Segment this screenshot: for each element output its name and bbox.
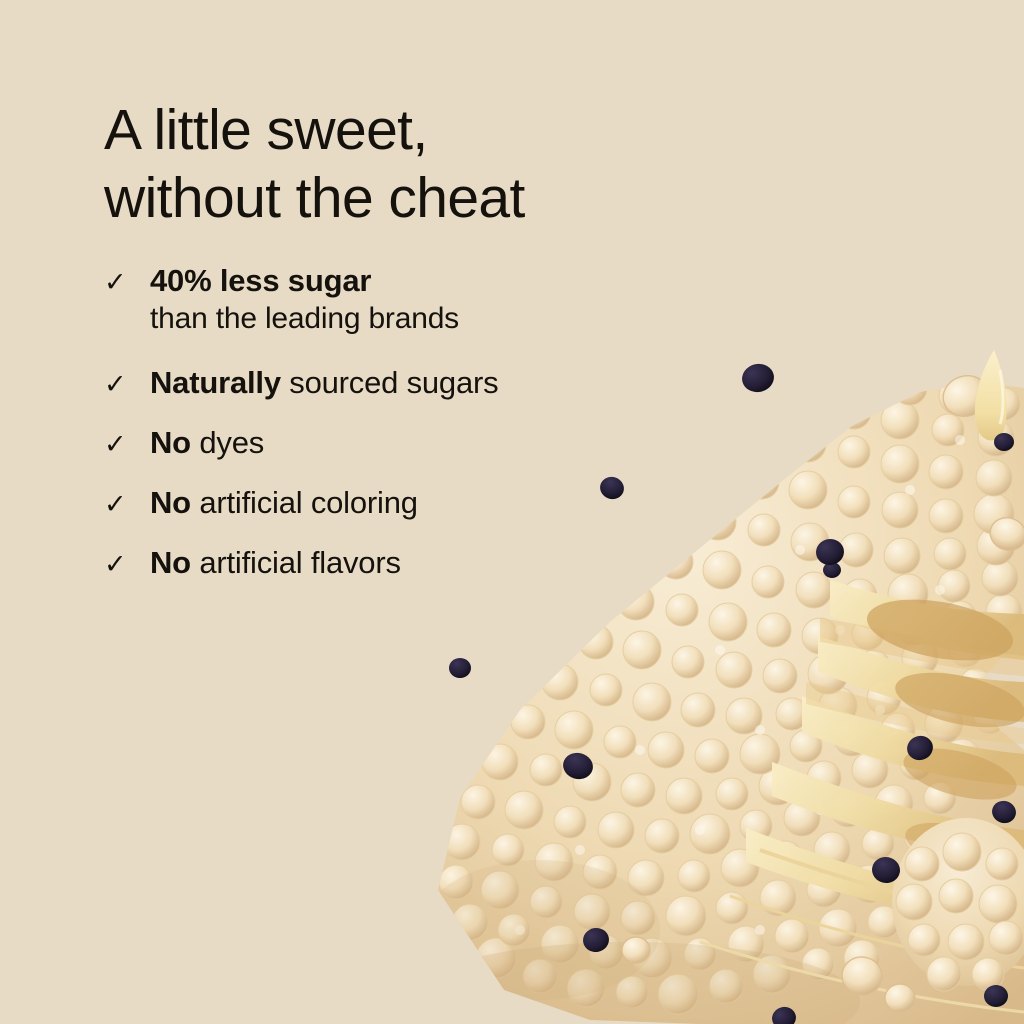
benefit-headline: No artificial flavors	[150, 544, 724, 582]
benefit-text: No dyes	[150, 424, 724, 462]
promo-canvas: A little sweet, without the cheat ✓ 40% …	[0, 0, 1024, 1024]
benefit-rest: dyes	[191, 425, 264, 460]
benefit-rest: artificial flavors	[191, 545, 401, 580]
benefit-headline: No dyes	[150, 424, 724, 462]
benefit-text: 40% less sugar than the leading brands	[150, 262, 724, 338]
headline-line-1: A little sweet,	[104, 96, 724, 164]
benefit-bold: 40% less sugar	[150, 263, 371, 298]
check-icon: ✓	[104, 364, 150, 402]
benefit-headline: Naturally sourced sugars	[150, 364, 724, 402]
benefit-bold: Naturally	[150, 365, 281, 400]
benefit-subtext: than the leading brands	[150, 300, 724, 338]
benefit-item-no-coloring: ✓ No artificial coloring	[104, 484, 724, 522]
benefit-rest: artificial coloring	[191, 485, 418, 520]
benefit-bold: No	[150, 545, 191, 580]
check-icon: ✓	[104, 262, 150, 300]
benefit-text: No artificial flavors	[150, 544, 724, 582]
benefit-text: Naturally sourced sugars	[150, 364, 724, 402]
benefit-item-sugar: ✓ 40% less sugar than the leading brands	[104, 262, 724, 338]
headline-line-2: without the cheat	[104, 164, 724, 232]
benefit-headline: No artificial coloring	[150, 484, 724, 522]
benefits-list: ✓ 40% less sugar than the leading brands…	[104, 262, 724, 604]
benefit-item-no-flavors: ✓ No artificial flavors	[104, 544, 724, 582]
headline: A little sweet, without the cheat	[104, 96, 724, 232]
benefit-bold: No	[150, 425, 191, 460]
benefit-item-no-dyes: ✓ No dyes	[104, 424, 724, 462]
check-icon: ✓	[104, 544, 150, 582]
check-icon: ✓	[104, 424, 150, 462]
benefit-headline: 40% less sugar	[150, 262, 724, 300]
benefit-item-natural-sugars: ✓ Naturally sourced sugars	[104, 364, 724, 402]
benefit-bold: No	[150, 485, 191, 520]
benefit-text: No artificial coloring	[150, 484, 724, 522]
check-icon: ✓	[104, 484, 150, 522]
benefit-rest: sourced sugars	[281, 365, 499, 400]
